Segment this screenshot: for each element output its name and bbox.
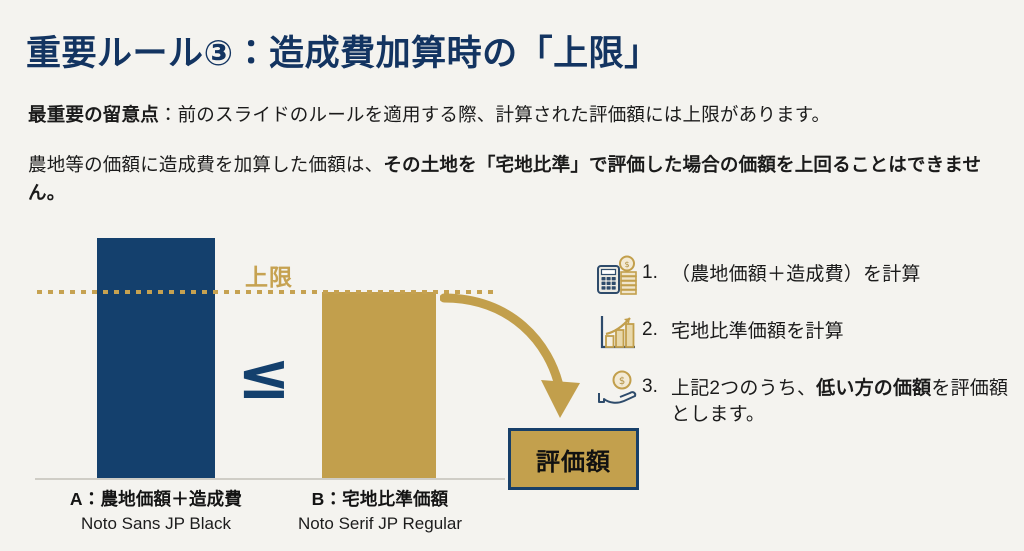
step-item-1: $ 1. （農地価額＋造成費）を計算 bbox=[592, 252, 1012, 300]
step-3-text-emphasis: 低い方の価額 bbox=[816, 378, 931, 399]
bar-a-label: A：農地価額＋造成費 bbox=[26, 486, 286, 511]
step-2-number: 2. bbox=[642, 319, 662, 341]
slide-canvas: 重要ルール③：造成費加算時の「上限」 最重要の留意点：前のスライドのルールを適用… bbox=[0, 0, 1024, 551]
step-1-text: （農地価額＋造成費）を計算 bbox=[671, 262, 921, 288]
hand-coin-icon: $ bbox=[592, 366, 642, 414]
calculator-coins-icon: $ bbox=[592, 252, 642, 300]
svg-text:$: $ bbox=[619, 376, 625, 387]
svg-text:$: $ bbox=[624, 260, 629, 269]
bar-a-agricultural-plus-development bbox=[97, 238, 215, 478]
step-3-number: 3. bbox=[642, 376, 662, 398]
comparison-bar-chart: 上限 ≤ A：農地価額＋造成費 Noto Sans JP Black B：宅地比… bbox=[0, 0, 560, 551]
step-3-text: 上記2つのうち、低い方の価額を評価額とします。 bbox=[671, 376, 1012, 427]
result-valuation-box: 評価額 bbox=[508, 428, 639, 490]
chart-baseline bbox=[35, 478, 505, 480]
step-1-number: 1. bbox=[642, 262, 662, 284]
step-2-text: 宅地比準価額を計算 bbox=[671, 319, 844, 345]
step-item-2: 2. 宅地比準価額を計算 bbox=[592, 309, 1012, 357]
bar-chart-growth-icon bbox=[592, 309, 642, 357]
bar-a-caption: A：農地価額＋造成費 Noto Sans JP Black bbox=[26, 486, 286, 534]
bar-a-sublabel: Noto Sans JP Black bbox=[26, 514, 286, 534]
bar-b-sublabel: Noto Serif JP Regular bbox=[250, 514, 510, 534]
step-3-text-pre: 上記2つのうち、 bbox=[671, 378, 816, 399]
steps-list: $ 1. （農地価額＋造成費）を計算 2. 宅地比準価額を計算 bbox=[592, 252, 1012, 436]
bar-b-residential-standard bbox=[322, 292, 436, 478]
bar-b-label: B：宅地比準価額 bbox=[250, 486, 510, 511]
less-than-or-equal-icon: ≤ bbox=[237, 345, 291, 409]
limit-label: 上限 bbox=[245, 258, 293, 292]
step-item-3: $ 3. 上記2つのうち、低い方の価額を評価額とします。 bbox=[592, 366, 1012, 427]
bar-b-caption: B：宅地比準価額 Noto Serif JP Regular bbox=[250, 486, 510, 534]
